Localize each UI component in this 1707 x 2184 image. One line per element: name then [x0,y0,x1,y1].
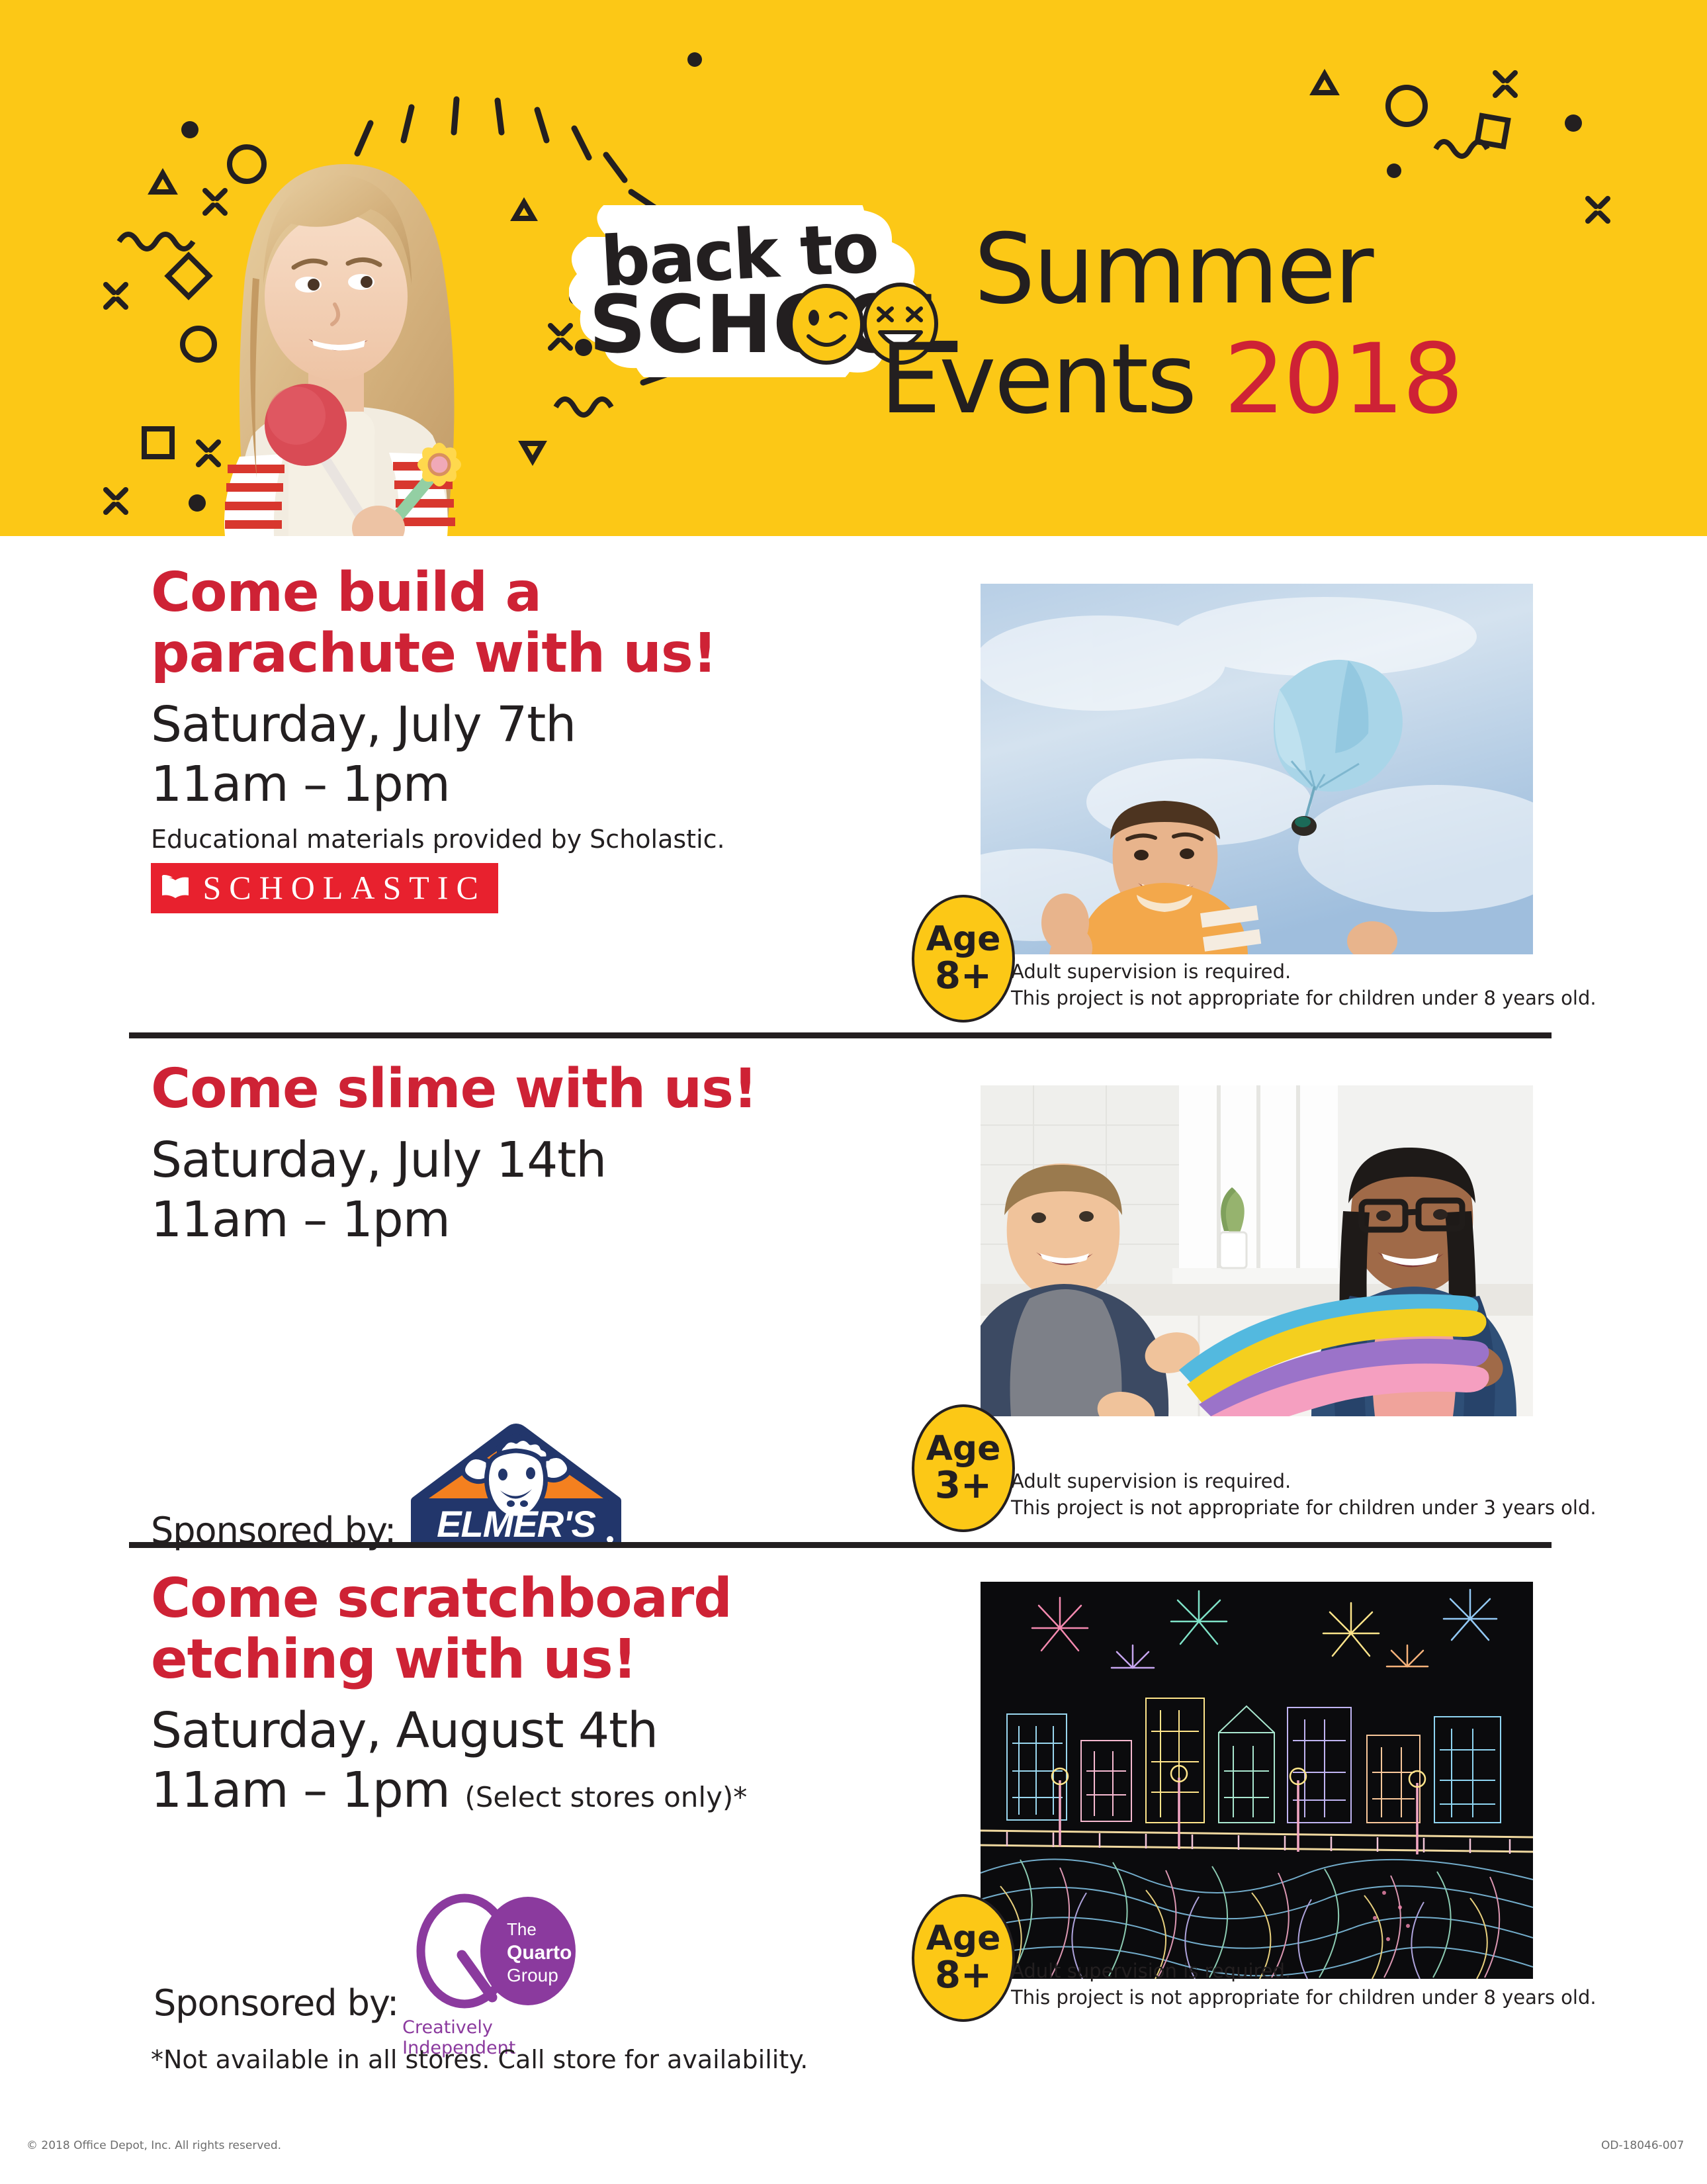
svg-text:ELMER'S: ELMER'S [437,1503,595,1545]
hero-girl-photo [165,86,509,536]
event3-disclaimer-line2: This project is not appropriate for chil… [1011,1984,1597,2011]
event2-disclaimer-line2: This project is not appropriate for chil… [1011,1494,1597,1521]
event3-heading-line2: etching with us! [151,1629,892,1690]
event2-disclaimer-line1: Adult supervision is required. [1011,1468,1597,1494]
poster-title-line1: Summer [974,221,1372,318]
event1-text-block: Come build a parachute with us! Saturday… [151,563,892,913]
scholastic-wordmark: SCHOLASTIC [202,868,486,907]
poster-header: back to SCHOOL Summer Events 2018 [0,0,1707,536]
smiley-wink-icon [787,283,865,365]
event2-sponsor-row: Sponsored by: ELMER'S [151,1416,622,1549]
event1-time: 11am – 1pm [151,754,892,814]
title-year: 2018 [1224,323,1462,435]
event3-photo [981,1582,1533,1979]
boy-parachute-illustration [981,584,1533,954]
event3-age-badge: Age 8+ [912,1894,1015,2022]
quarto-group-logo: The Quarto Group Creatively Independent [398,1893,590,2045]
elmers-logo-svg: ELMER'S [410,1416,622,1549]
event1-age-label: Age [926,921,1001,957]
event1-subtext: Educational materials provided by Schola… [151,823,892,856]
event1-heading-line1: Come build a [151,563,892,623]
event3-heading: Come scratchboard etching with us! [151,1569,892,1690]
section-divider-2 [129,1542,1552,1548]
event2-heading: Come slime with us! [151,1059,892,1120]
event2-photo [981,1085,1533,1416]
svg-text:Quarto: Quarto [507,1942,572,1964]
event2-heading-line1: Come slime with us! [151,1059,892,1120]
event3-disclaimer-line1: Adult supervision is required. [1011,1958,1597,1984]
event1-heading: Come build a parachute with us! [151,563,892,684]
event3-date: Saturday, August 4th [151,1701,892,1760]
kids-slime-illustration [981,1085,1533,1416]
svg-text:The: The [507,1919,537,1939]
event3-age-value: 8+ [935,1956,992,1995]
event3-heading-line1: Come scratchboard [151,1569,892,1629]
title-events-word: Events [880,323,1195,435]
event3-sponsor-label: Sponsored by: [153,1985,398,2021]
event3-time: 11am – 1pm [151,1762,450,1819]
event3-sponsor-row: Sponsored by: The Quarto Group Creativel… [153,1893,590,2045]
event3-disclaimer: Adult supervision is required. This proj… [1011,1958,1597,2011]
poster-title-line2: Events 2018 [880,331,1462,428]
scratchboard-artwork-illustration [981,1582,1533,1979]
od-reference-code: OD-18046-007 [1601,2139,1684,2152]
event3-time-row: 11am – 1pm (Select stores only)* [151,1760,892,1820]
event2-age-badge: Age 3+ [912,1404,1015,1532]
copyright-text: © 2018 Office Depot, Inc. All rights res… [26,2139,281,2152]
availability-footnote: *Not available in all stores. Call store… [151,2045,808,2074]
svg-text:Group: Group [507,1965,558,1985]
event3-text-block: Come scratchboard etching with us! Satur… [151,1569,892,1820]
event2-text-block: Come slime with us! Saturday, July 14th … [151,1059,892,1250]
event3-time-note: (Select stores only)* [464,1781,747,1813]
section-divider-1 [129,1032,1552,1038]
event1-disclaimer-line1: Adult supervision is required. [1011,958,1597,985]
event2-date: Saturday, July 14th [151,1130,892,1190]
event1-disclaimer-line2: This project is not appropriate for chil… [1011,985,1597,1011]
event1-heading-line2: parachute with us! [151,623,892,684]
event3-age-label: Age [926,1921,1001,1956]
event2-age-value: 3+ [935,1467,992,1505]
event1-age-value: 8+ [935,957,992,995]
scholastic-logo: SCHOLASTIC [151,863,498,913]
open-book-icon [160,874,191,901]
elmers-logo: ELMER'S [410,1416,622,1549]
event1-disclaimer: Adult supervision is required. This proj… [1011,958,1597,1011]
event1-photo [981,584,1533,954]
event2-disclaimer: Adult supervision is required. This proj… [1011,1468,1597,1521]
event2-time: 11am – 1pm [151,1190,892,1250]
event2-age-label: Age [926,1431,1001,1467]
event1-age-badge: Age 8+ [912,895,1015,1023]
event1-date: Saturday, July 7th [151,695,892,754]
